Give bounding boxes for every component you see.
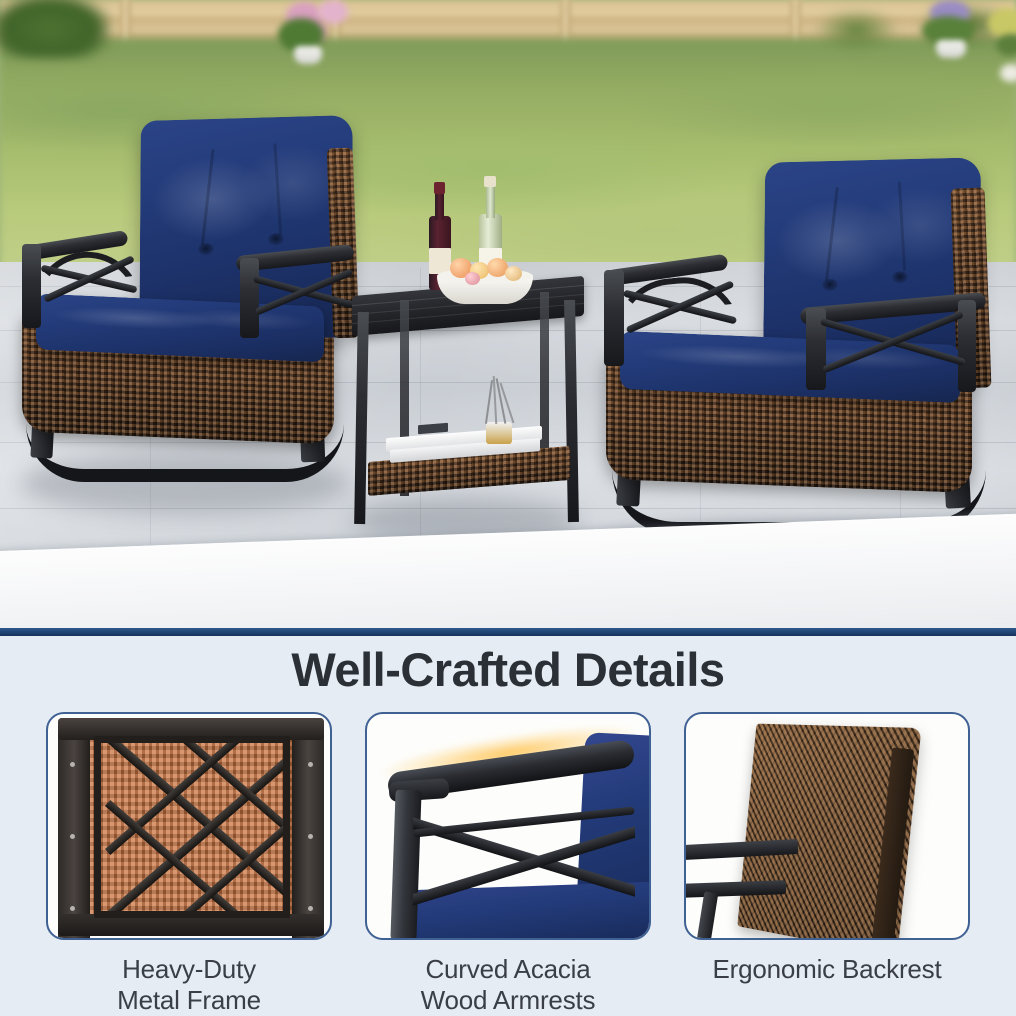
shrub xyxy=(0,0,110,58)
detail-card-metal-frame[interactable]: Heavy-Duty Metal Frame xyxy=(46,712,332,1016)
detail-card-caption: Ergonomic Backrest xyxy=(684,954,970,985)
hero-product-photo xyxy=(0,0,1016,632)
frame-post xyxy=(696,891,719,940)
shrub xyxy=(806,0,1016,70)
x-brace xyxy=(250,264,357,319)
detail-card-backrest[interactable]: Ergonomic Backrest xyxy=(684,712,970,985)
detail-card-image-backrest xyxy=(684,712,970,940)
detail-card-armrests[interactable]: Curved Acacia Wood Armrests xyxy=(365,712,651,1016)
product-infographic: Well-Crafted Details xyxy=(0,0,1016,1016)
pot xyxy=(1000,64,1016,82)
detail-cards: Heavy-Duty Metal Frame xyxy=(0,712,1016,1012)
details-heading: Well-Crafted Details xyxy=(0,642,1016,697)
detail-card-image-metal-frame xyxy=(46,712,332,940)
detail-card-image-armrests xyxy=(365,712,651,940)
x-brace xyxy=(817,310,970,374)
details-section: Well-Crafted Details xyxy=(0,636,1016,1016)
section-divider xyxy=(0,628,1016,636)
detail-card-caption: Heavy-Duty Metal Frame xyxy=(46,954,332,1016)
x-brace xyxy=(620,277,740,337)
detail-card-caption: Curved Acacia Wood Armrests xyxy=(365,954,651,1016)
